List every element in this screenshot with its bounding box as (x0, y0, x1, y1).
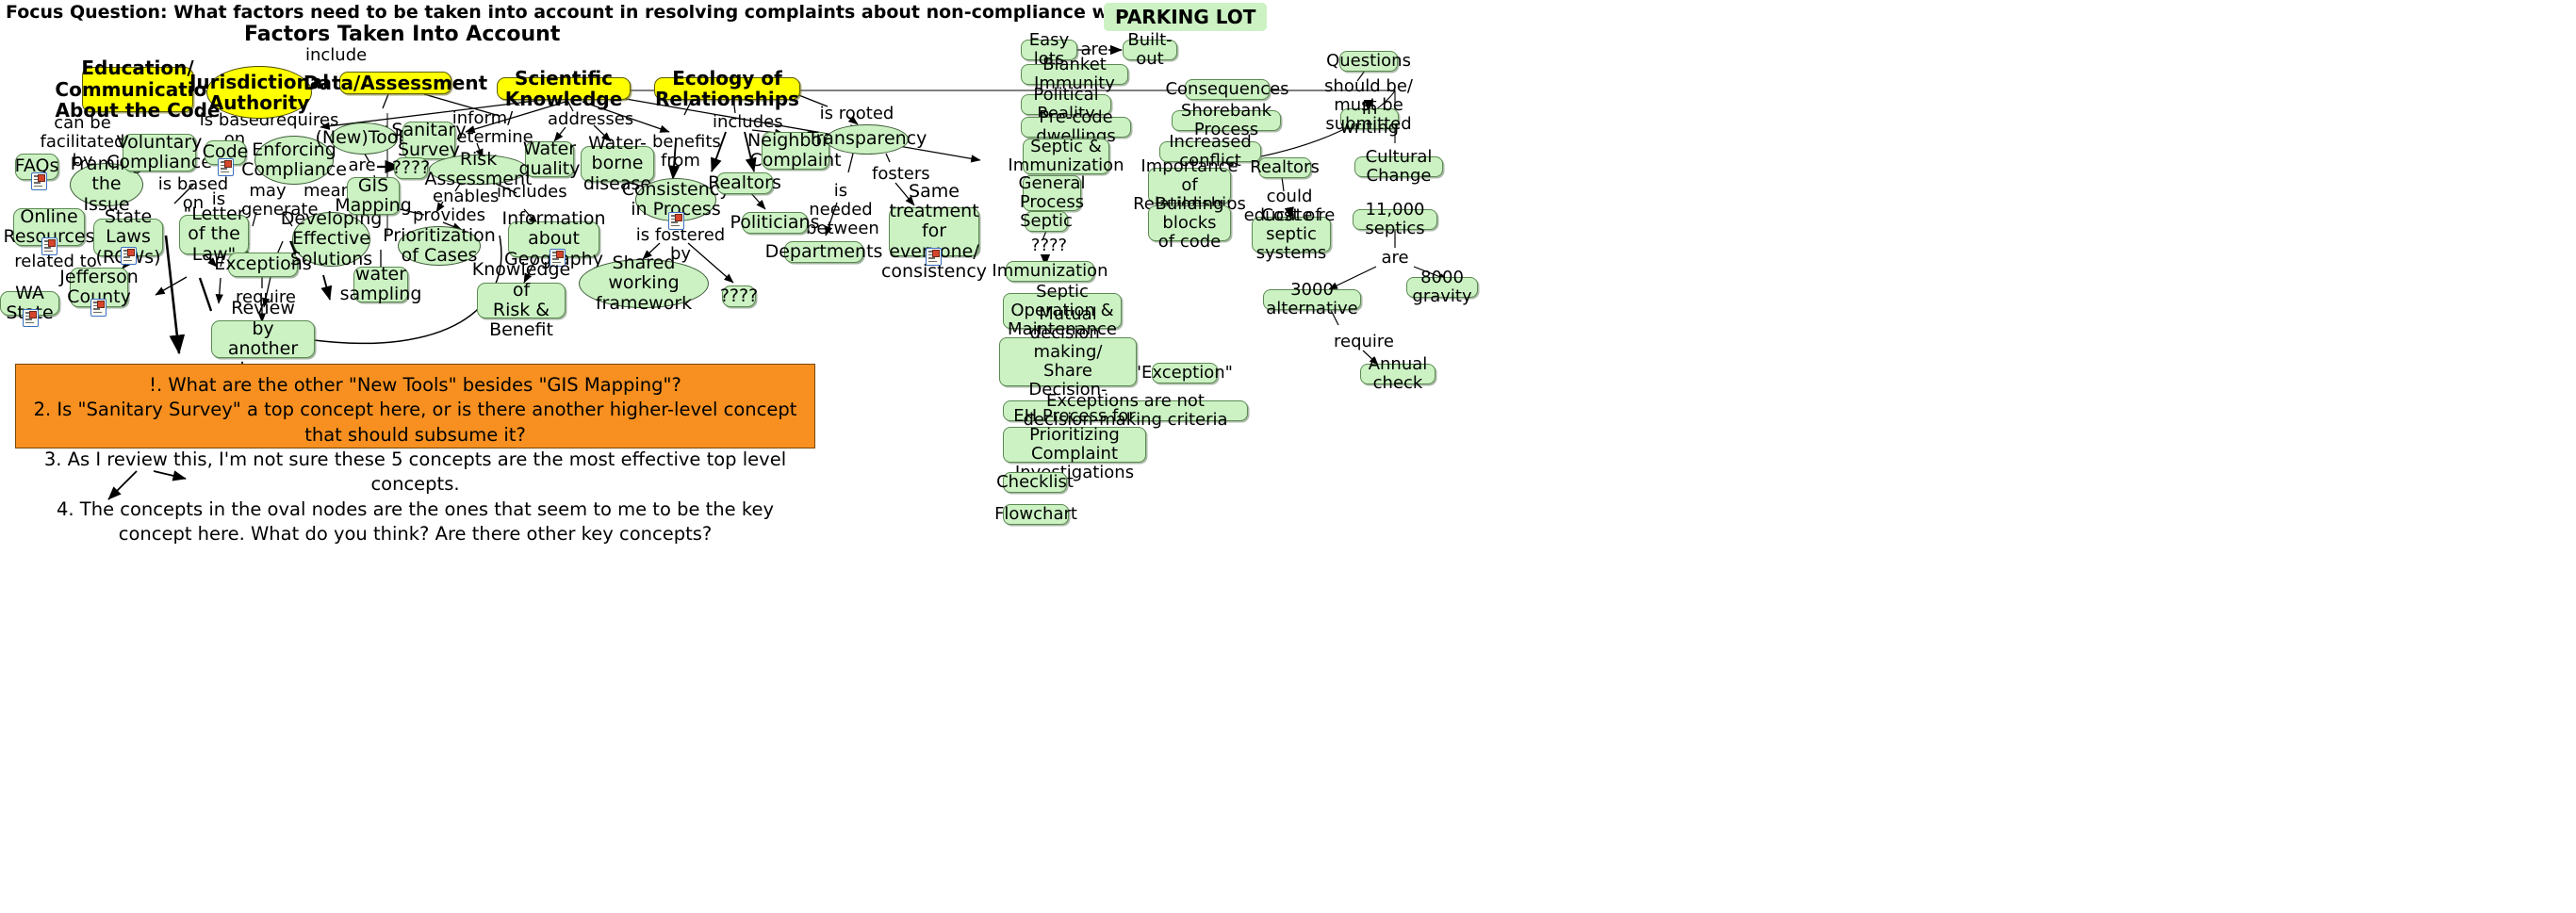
link-include: include (305, 46, 362, 65)
pl-node-consequences[interactable]: Consequences (1185, 79, 1270, 100)
pl-node-pre-code-dwellings[interactable]: Pre-code dwellings (1021, 117, 1131, 138)
pl-node-8000-gravity[interactable]: 8000 gravity (1406, 277, 1478, 298)
node-realtors[interactable]: Realtors (716, 172, 773, 194)
pl-link-unknown: ???? (1030, 236, 1068, 255)
link-provides: provides (413, 206, 471, 225)
pl-node-building-blocks-of-code[interactable]: Building blocks of code (1148, 205, 1231, 241)
node-risk-assessment[interactable]: Risk Assessment (429, 155, 528, 185)
node-prioritization-of-cases[interactable]: Prioritization of Cases (398, 226, 481, 266)
resource-icon[interactable] (41, 237, 57, 255)
pl-node-flowchart[interactable]: Flowchart (1003, 504, 1069, 525)
pl-link-could-educate-re: could educate re (1239, 187, 1340, 225)
node-review-by-another-team[interactable]: Review by another team (211, 320, 315, 358)
link-benefits-from: benefits from (652, 133, 709, 171)
node-developing-effective-solutions[interactable]: Developing Effective Solutions (292, 212, 370, 267)
reviewer-note: !. What are the other "New Tools" beside… (15, 364, 815, 448)
node-data-assessment[interactable]: Data/Assessment (339, 72, 451, 94)
pl-node-annual-check[interactable]: Annual check (1360, 364, 1436, 384)
link-are: are (347, 156, 377, 175)
pl-node-questions[interactable]: Questions (1339, 51, 1398, 72)
pl-link-are-1: are (1080, 41, 1108, 59)
pl-link-are-2: are (1381, 249, 1409, 268)
link-addresses: addresses (548, 110, 617, 129)
pl-node-realtors[interactable]: Realtors (1258, 157, 1311, 178)
node-education-communication[interactable]: Education/ Communication About the Code (82, 67, 193, 112)
parking-lot-title: PARKING LOT (1104, 3, 1267, 31)
concept-map-canvas: Focus Question: What factors need to be … (0, 0, 2576, 913)
resource-icon[interactable] (23, 309, 39, 327)
resource-icon[interactable] (90, 299, 107, 317)
node-new-tools[interactable]: (New)Tools (330, 122, 398, 155)
focus-question: Focus Question: What factors need to be … (6, 2, 1201, 23)
pl-node-blanket-immunity[interactable]: Blanket Immunity (1021, 64, 1128, 85)
resource-icon[interactable] (926, 248, 942, 266)
pl-node-septic-immunization[interactable]: Septic & Immunization (1023, 139, 1109, 174)
node-jurisdictional-authority[interactable]: Jurisdictional Authority (206, 66, 312, 119)
resource-icon[interactable] (121, 247, 137, 265)
resource-icon[interactable] (218, 158, 234, 176)
resource-icon[interactable] (668, 212, 684, 230)
pl-node-built-out[interactable]: Built-out (1123, 40, 1177, 60)
pl-node-checklist[interactable]: Checklist (1003, 472, 1067, 493)
node-water-borne-disease[interactable]: Water-borne disease (581, 146, 654, 182)
pl-link-require: require (1334, 333, 1383, 351)
pl-node-shorebank-process[interactable]: Shorebank Process (1172, 110, 1281, 131)
pl-node-11000-septics[interactable]: 11,000 septics (1353, 209, 1437, 230)
pl-node-3000-alternative[interactable]: 3000 alternative (1263, 289, 1361, 310)
node-scientific-knowledge[interactable]: Scientific Knowledge (497, 77, 631, 100)
node-departments[interactable]: Departments (784, 241, 863, 263)
pl-node-cultural-change[interactable]: Cultural Change (1354, 156, 1443, 177)
pl-link-should-be-submitted: should be/ must be submitted (1308, 77, 1429, 133)
node-transparency[interactable]: Transparency (826, 124, 909, 155)
page-title: Factors Taken Into Account (244, 23, 560, 46)
pl-node-eh-process[interactable]: EH Process for Prioritizing Complaint In… (1003, 427, 1146, 463)
node-politicians[interactable]: Politicians (742, 212, 808, 234)
link-includes-eco: includes (713, 113, 771, 132)
node-voluntary-compliance[interactable]: Voluntary Compliance (123, 134, 196, 171)
link-enables: enables (433, 187, 485, 206)
node-water-sampling[interactable]: water sampling (353, 267, 408, 302)
node-ecology-of-relationships[interactable]: Ecology of Relationships (654, 77, 800, 100)
pl-node-immunization[interactable]: Immunization (1006, 261, 1094, 282)
node-shared-working-framework[interactable]: Shared working framework (579, 259, 709, 308)
node-water-quality[interactable]: Water quality (525, 141, 574, 177)
pl-node-exception[interactable]: 'Exception" (1152, 363, 1218, 383)
node-shared-unknown[interactable]: ???? (722, 285, 756, 307)
node-letter-of-the-law[interactable]: "Letter of the Law" (179, 215, 249, 254)
pl-node-mutual-decision-making[interactable]: Mutual decision-making/ Share Decision-m… (999, 337, 1137, 386)
resource-icon[interactable] (31, 172, 47, 190)
node-gis-mapping[interactable]: GIS Mapping (347, 177, 400, 215)
pl-node-septic[interactable]: Septic (1025, 211, 1068, 232)
node-knowledge-of-risk-benefit[interactable]: Knowledge of Risk & Benefit (477, 283, 566, 318)
pl-node-general-process[interactable]: General Process (1023, 175, 1081, 211)
